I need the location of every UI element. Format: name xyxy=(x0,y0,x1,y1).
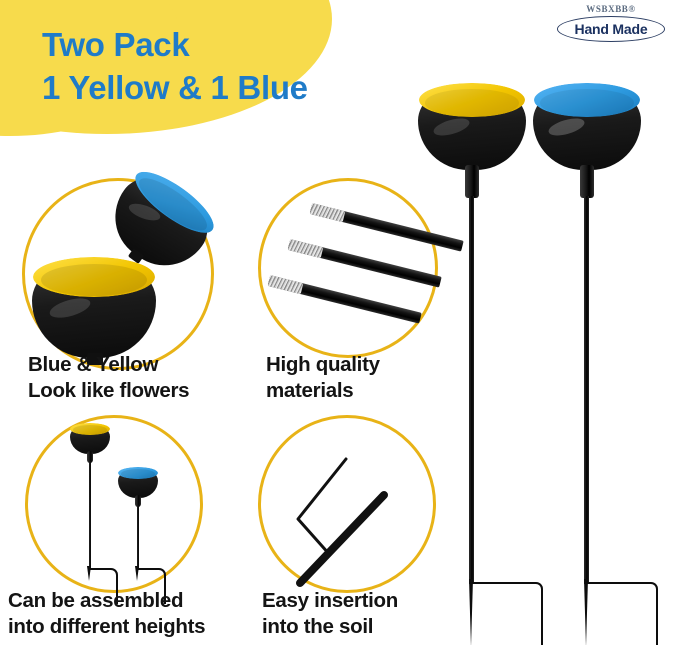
caption-line-1: Easy insertion xyxy=(262,588,398,614)
title-line-1: Two Pack xyxy=(42,24,308,67)
caption-line-1: High quality xyxy=(266,352,380,378)
product-tip-blue xyxy=(584,579,588,645)
product-rod-yellow xyxy=(469,196,474,584)
product-rod-blue xyxy=(584,196,589,584)
feature-caption-materials: High quality materials xyxy=(266,352,380,404)
yellow-bowl-icon xyxy=(32,258,156,358)
feature-ring-heights xyxy=(25,415,203,593)
caption-line-1: Blue & Yellow xyxy=(28,352,189,378)
feature-caption-colors: Blue & Yellow Look like flowers xyxy=(28,352,189,404)
product-footbar-blue xyxy=(586,582,658,645)
caption-line-2: materials xyxy=(266,378,380,404)
caption-line-2: into different heights xyxy=(8,614,205,640)
brand-badge: WSBXBB® Hand Made xyxy=(551,4,671,42)
product-collar-yellow xyxy=(465,165,479,198)
product-bowl-blue xyxy=(533,84,641,170)
product-footbar-yellow xyxy=(471,582,543,645)
title-line-2: 1 Yellow & 1 Blue xyxy=(42,67,308,110)
caption-line-2: Look like flowers xyxy=(28,378,189,404)
product-infographic: Two Pack 1 Yellow & 1 Blue WSBXBB® Hand … xyxy=(0,0,679,645)
threaded-rods-icon xyxy=(255,175,445,365)
brand-name: WSBXBB® xyxy=(551,4,671,14)
product-collar-blue xyxy=(580,165,594,198)
product-tip-yellow xyxy=(469,579,473,645)
caption-line-2: into the soil xyxy=(262,614,398,640)
page-title: Two Pack 1 Yellow & 1 Blue xyxy=(42,24,308,109)
feature-caption-insertion: Easy insertion into the soil xyxy=(262,588,398,640)
hand-made-badge: Hand Made xyxy=(557,16,666,42)
stake-ground-spike-icon xyxy=(258,415,436,593)
product-bowl-yellow xyxy=(418,84,526,170)
feature-caption-heights: Can be assembled into different heights xyxy=(8,588,205,640)
caption-line-1: Can be assembled xyxy=(8,588,205,614)
